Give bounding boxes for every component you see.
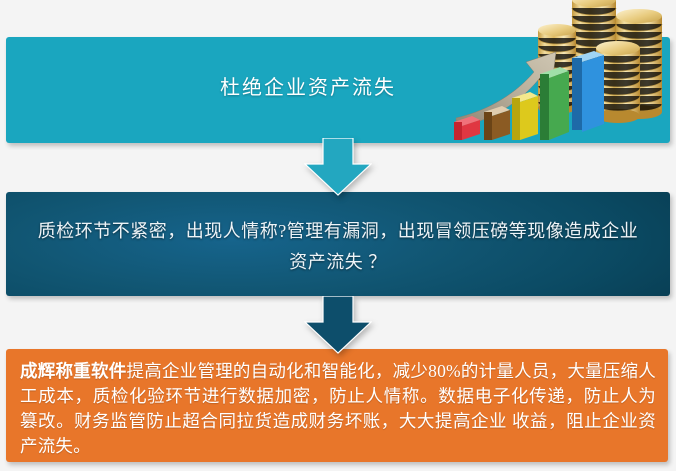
solution-statement-text: 成辉称重软件提高企业管理的自动化和智能化，减少80%的计量人员，大量压缩人工成本… [20, 359, 656, 459]
connector-arrow-two [304, 296, 372, 354]
headline-banner[interactable]: 杜绝企业资产流失 [6, 37, 670, 143]
problem-statement-panel[interactable]: 质检环节不紧密，出现人情称?管理有漏洞，出现冒领压磅等现像造成企业资产流失 ？ [6, 192, 670, 296]
connector-arrow-one [304, 138, 372, 196]
problem-statement-text: 质检环节不紧密，出现人情称?管理有漏洞，出现冒领压磅等现像造成企业资产流失 ？ [30, 216, 646, 278]
headline-text: 杜绝企业资产流失 [6, 71, 670, 100]
slide-canvas: 杜绝企业资产流失 [0, 0, 676, 471]
brand-name: 成辉称重软件 [20, 361, 126, 381]
solution-statement-panel[interactable]: 成辉称重软件提高企业管理的自动化和智能化，减少80%的计量人员，大量压缩人工成本… [6, 349, 668, 462]
